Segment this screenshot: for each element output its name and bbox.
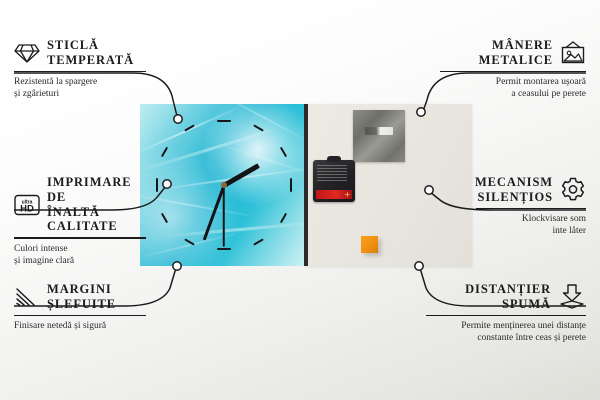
clock-second-hand bbox=[223, 185, 225, 247]
feature-subtitle: Culori intense și imagine clară bbox=[14, 243, 146, 268]
polished-edges-icon bbox=[14, 286, 40, 308]
gear-icon bbox=[560, 177, 586, 202]
infographic-canvas: + bbox=[0, 0, 600, 400]
feature-subtitle: Klockvisare som inte låter bbox=[476, 213, 586, 238]
battery-plus-symbol: + bbox=[344, 191, 350, 198]
feature-title: DISTANȚIER SPUMĂ bbox=[465, 282, 551, 312]
feature-divider bbox=[476, 208, 586, 210]
product-photo: + bbox=[140, 104, 472, 266]
picture-frame-hanger-icon bbox=[560, 41, 586, 64]
clock-tick bbox=[217, 120, 231, 122]
foam-spacer-pad bbox=[361, 236, 378, 253]
feather-streak bbox=[140, 192, 259, 218]
clock-movement-box: + bbox=[313, 160, 355, 202]
movement-label bbox=[317, 165, 347, 181]
hanger-keyhole-slot bbox=[365, 127, 393, 135]
clock-tick bbox=[280, 147, 287, 158]
clock-tick bbox=[217, 248, 231, 250]
clock-tick bbox=[280, 213, 287, 224]
feature-divider bbox=[14, 71, 146, 73]
metal-hanger-plate bbox=[353, 110, 405, 162]
feature-high-quality-print: ultra HD IMPRIMARE DE ÎNALTĂ CALITATE Cu… bbox=[14, 175, 146, 267]
feather-streak bbox=[160, 221, 308, 238]
feature-subtitle: Rezistentă la spargere și zgârieturi bbox=[14, 76, 146, 101]
press-down-arrow-icon bbox=[558, 284, 586, 310]
battery: + bbox=[316, 190, 352, 199]
feature-divider bbox=[440, 71, 586, 73]
clock-back-panel: + bbox=[305, 104, 472, 266]
clock-tick bbox=[253, 238, 264, 245]
feature-subtitle: Finisare netedă și sigură bbox=[14, 320, 146, 332]
clock-face bbox=[140, 104, 308, 266]
feature-title: MÂNERE METALICE bbox=[479, 38, 553, 68]
clock-tick bbox=[161, 147, 168, 158]
feature-subtitle: Permite menținerea unei distanțe constan… bbox=[426, 320, 586, 345]
feature-divider bbox=[14, 315, 146, 317]
feature-foam-spacer: DISTANȚIER SPUMĂ Permite menținerea unei… bbox=[426, 282, 586, 345]
clock-tick bbox=[253, 124, 264, 131]
feather-streak bbox=[140, 106, 241, 157]
feature-title: STICLĂ TEMPERATĂ bbox=[47, 38, 134, 68]
ultra-hd-icon: ultra HD bbox=[14, 194, 40, 216]
feature-tempered-glass: STICLĂ TEMPERATĂ Rezistentă la spargere … bbox=[14, 38, 146, 101]
feature-subtitle: Permit montarea ușoară a ceasului pe per… bbox=[440, 76, 586, 101]
feature-divider bbox=[14, 237, 146, 239]
feature-divider bbox=[426, 315, 586, 317]
clock-tick bbox=[290, 178, 292, 192]
movement-lug bbox=[327, 156, 341, 162]
feature-title: MECANISM SILENȚIOS bbox=[475, 175, 553, 205]
feather-streak bbox=[140, 126, 281, 173]
feature-silent-mechanism: MECANISM SILENȚIOS Klockvisare som inte … bbox=[476, 175, 586, 238]
feature-title: MARGINI ȘLEFUITE bbox=[47, 282, 116, 312]
feature-metal-handles: MÂNERE METALICE Permit montarea ușoară a… bbox=[440, 38, 586, 101]
feature-polished-edges: MARGINI ȘLEFUITE Finisare netedă și sigu… bbox=[14, 282, 146, 332]
diamond-icon bbox=[14, 42, 40, 64]
svg-text:HD: HD bbox=[20, 203, 34, 214]
feather-streak bbox=[212, 141, 308, 177]
clock-center-cap bbox=[221, 182, 227, 188]
clock-tick bbox=[161, 213, 168, 224]
clock-tick bbox=[156, 178, 158, 192]
feature-title: IMPRIMARE DE ÎNALTĂ CALITATE bbox=[47, 175, 146, 234]
